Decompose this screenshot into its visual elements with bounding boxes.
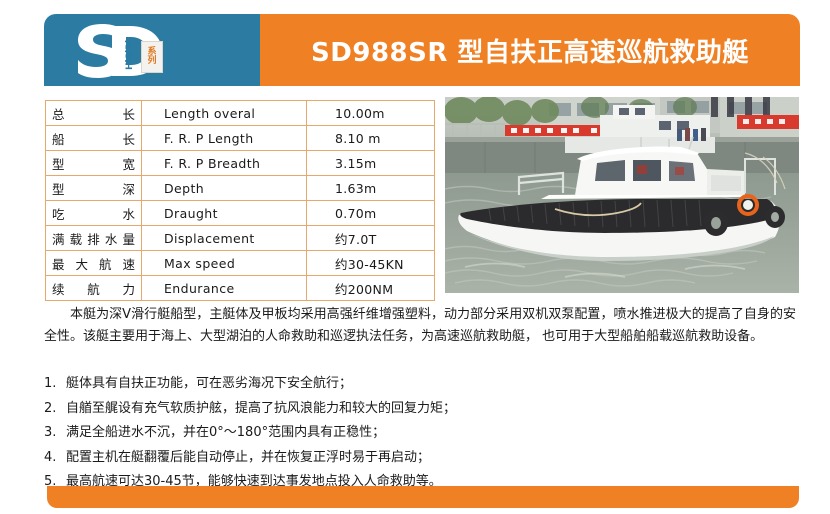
page-header: HiSiBi 系 列 SD988SR 型自扶正高速巡航救助艇	[44, 14, 800, 86]
product-datasheet-page: HiSiBi 系 列 SD988SR 型自扶正高速巡航救助艇 总长 Length…	[0, 0, 830, 514]
spec-label-en: Depth	[142, 176, 307, 201]
page-title: SD988SR 型自扶正高速巡航救助艇	[311, 32, 749, 69]
footer-bar	[47, 486, 799, 508]
spec-label-cn: 型宽	[46, 151, 142, 176]
list-item-label: 自艏至艉设有充气软质护舷，提高了抗风浪能力和较大的回复力矩；	[66, 401, 456, 416]
stamp-char-2: 列	[147, 57, 156, 66]
svg-text:HiSiBi: HiSiBi	[125, 40, 135, 70]
spec-value: 1.63m	[307, 176, 435, 201]
list-item: 4.配置主机在艇翻覆后能自动停止，并在恢复正浮时易于再启动；	[44, 446, 796, 471]
table-row: 总长 Length overal 10.00m	[46, 101, 435, 126]
boat-photo	[445, 97, 799, 293]
list-item-label: 艇体具有自扶正功能，可在恶劣海况下安全航行；	[66, 376, 352, 391]
list-item: 3.满足全船进水不沉，并在0°～180°范围内具有正稳性；	[44, 421, 796, 446]
table-row: 最大航速 Max speed 约30-45KN	[46, 251, 435, 276]
spec-value: 0.70m	[307, 201, 435, 226]
spec-label-cn: 最大航速	[46, 251, 142, 276]
list-item-number: 1.	[44, 372, 66, 397]
table-row: 续航力 Endurance 约200NM	[46, 276, 435, 301]
list-item: 2.自艏至艉设有充气软质护舷，提高了抗风浪能力和较大的回复力矩；	[44, 397, 796, 422]
list-item-number: 3.	[44, 421, 66, 446]
spec-label-cn: 船长	[46, 126, 142, 151]
spec-label-en: Length overal	[142, 101, 307, 126]
spec-value: 约7.0T	[307, 226, 435, 251]
table-row: 满载排水量 Displacement 约7.0T	[46, 226, 435, 251]
spec-label-cn: 吃水	[46, 201, 142, 226]
list-item: 1.艇体具有自扶正功能，可在恶劣海况下安全航行；	[44, 372, 796, 397]
spec-value: 3.15m	[307, 151, 435, 176]
spec-value: 约200NM	[307, 276, 435, 301]
spec-label-cn: 续航力	[46, 276, 142, 301]
table-row: 型深 Depth 1.63m	[46, 176, 435, 201]
spec-label-cn: 满载排水量	[46, 226, 142, 251]
spec-table-body: 总长 Length overal 10.00m 船长 F. R. P Lengt…	[46, 101, 435, 301]
spec-value: 10.00m	[307, 101, 435, 126]
list-item-number: 4.	[44, 446, 66, 471]
spec-label-en: Endurance	[142, 276, 307, 301]
list-item-number: 2.	[44, 397, 66, 422]
spec-label-en: F. R. P Breadth	[142, 151, 307, 176]
series-stamp-icon: 系 列	[141, 41, 163, 73]
title-banner: SD988SR 型自扶正高速巡航救助艇	[260, 14, 800, 86]
spec-label-en: Draught	[142, 201, 307, 226]
table-row: 吃水 Draught 0.70m	[46, 201, 435, 226]
specification-table: 总长 Length overal 10.00m 船长 F. R. P Lengt…	[45, 100, 435, 301]
brand-logo-block: HiSiBi 系 列	[44, 14, 260, 86]
feature-list: 1.艇体具有自扶正功能，可在恶劣海况下安全航行； 2.自艏至艉设有充气软质护舷，…	[44, 372, 796, 495]
spec-value: 约30-45KN	[307, 251, 435, 276]
spec-label-en: Displacement	[142, 226, 307, 251]
description-text: 本艇为深V滑行艇船型，主艇体及甲板均采用高强纤维增强塑料，动力部分采用双机双泵配…	[44, 307, 796, 344]
list-item-label: 满足全船进水不沉，并在0°～180°范围内具有正稳性；	[66, 425, 385, 440]
list-item-label: 配置主机在艇翻覆后能自动停止，并在恢复正浮时易于再启动；	[66, 450, 430, 465]
table-row: 型宽 F. R. P Breadth 3.15m	[46, 151, 435, 176]
spec-label-cn: 型深	[46, 176, 142, 201]
spec-label-cn: 总长	[46, 101, 142, 126]
product-description: 本艇为深V滑行艇船型，主艇体及甲板均采用高强纤维增强塑料，动力部分采用双机双泵配…	[44, 304, 796, 348]
table-row: 船长 F. R. P Length 8.10 m	[46, 126, 435, 151]
spec-value: 8.10 m	[307, 126, 435, 151]
spec-label-en: F. R. P Length	[142, 126, 307, 151]
spec-label-en: Max speed	[142, 251, 307, 276]
